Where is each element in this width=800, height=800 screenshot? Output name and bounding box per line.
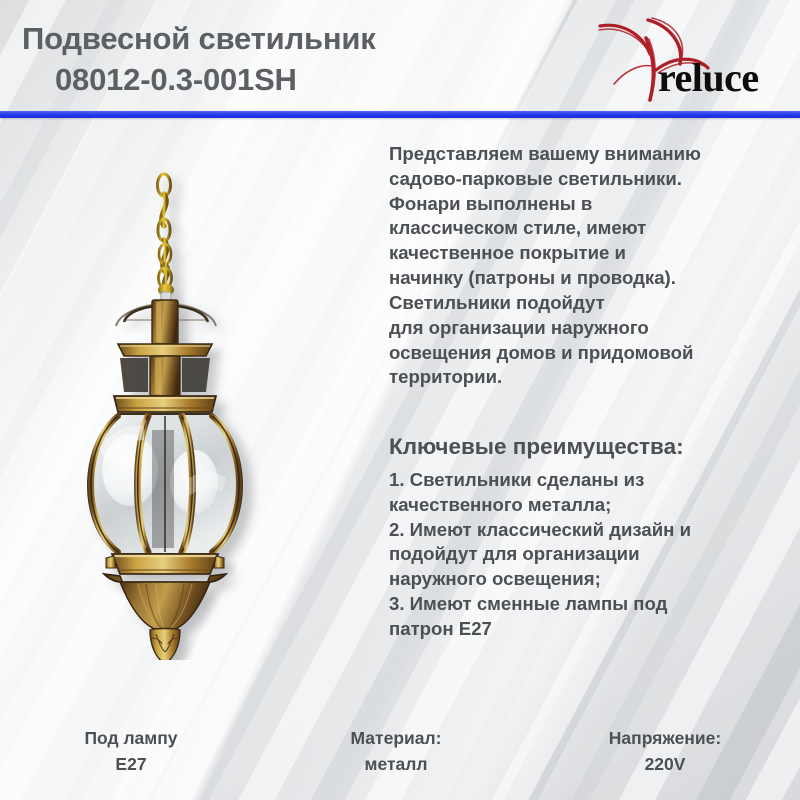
accent-divider: [0, 111, 800, 118]
advantage-line: наружного освещения;: [389, 567, 794, 592]
description-line: Светильники подойдут: [389, 291, 789, 316]
advantage-line: 1. Светильники сделаны из: [389, 468, 794, 493]
description-line: для организации наружного: [389, 316, 789, 341]
description-line: освещения домов и придомовой: [389, 341, 789, 366]
description-block: Представляем вашему вниманию садово-парк…: [389, 142, 789, 390]
advantages-heading: Ключевые преимущества:: [389, 433, 794, 460]
spec-material: Материал: металл: [262, 726, 530, 796]
reluce-logo: reluce: [596, 8, 786, 106]
specifications-row: Под лампу E27 Материал: металл Напряжени…: [0, 726, 800, 796]
spec-label: Материал:: [262, 726, 530, 752]
advantage-line: патрон E27: [389, 617, 794, 642]
description-line: классическом стиле, имеют: [389, 216, 789, 241]
advantage-line: 2. Имеют классический дизайн и: [389, 518, 794, 543]
spec-voltage: Напряжение: 220V: [530, 726, 800, 796]
product-image: [60, 130, 360, 660]
advantage-line: подойдут для организации: [389, 542, 794, 567]
spec-label: Напряжение:: [530, 726, 800, 752]
page-title: Подвесной светильник 08012-0.3-001SH: [22, 22, 376, 97]
pendant-lantern-illustration: [60, 130, 360, 660]
header: Подвесной светильник 08012-0.3-001SH: [0, 0, 800, 112]
description-line: начинку (патроны и проводка).: [389, 266, 789, 291]
description-line: территории.: [389, 365, 789, 390]
product-model: 08012-0.3-001SH: [55, 63, 376, 98]
description-line: садово-парковые светильники.: [389, 167, 789, 192]
spec-lamp-socket: Под лампу E27: [0, 726, 262, 796]
logo-wordmark: reluce: [658, 54, 759, 101]
description-line: качественное покрытие и: [389, 241, 789, 266]
spec-value: E27: [0, 752, 262, 778]
spec-value: 220V: [530, 752, 800, 778]
spec-label: Под лампу: [0, 726, 262, 752]
description-line: Фонари выполнены в: [389, 192, 789, 217]
description-line: Представляем вашему вниманию: [389, 142, 789, 167]
spec-value: металл: [262, 752, 530, 778]
advantages-list: 1. Светильники сделаны из качественного …: [389, 468, 794, 642]
advantage-line: качественного металла;: [389, 493, 794, 518]
advantage-line: 3. Имеют сменные лампы под: [389, 592, 794, 617]
product-title: Подвесной светильник: [22, 22, 376, 57]
